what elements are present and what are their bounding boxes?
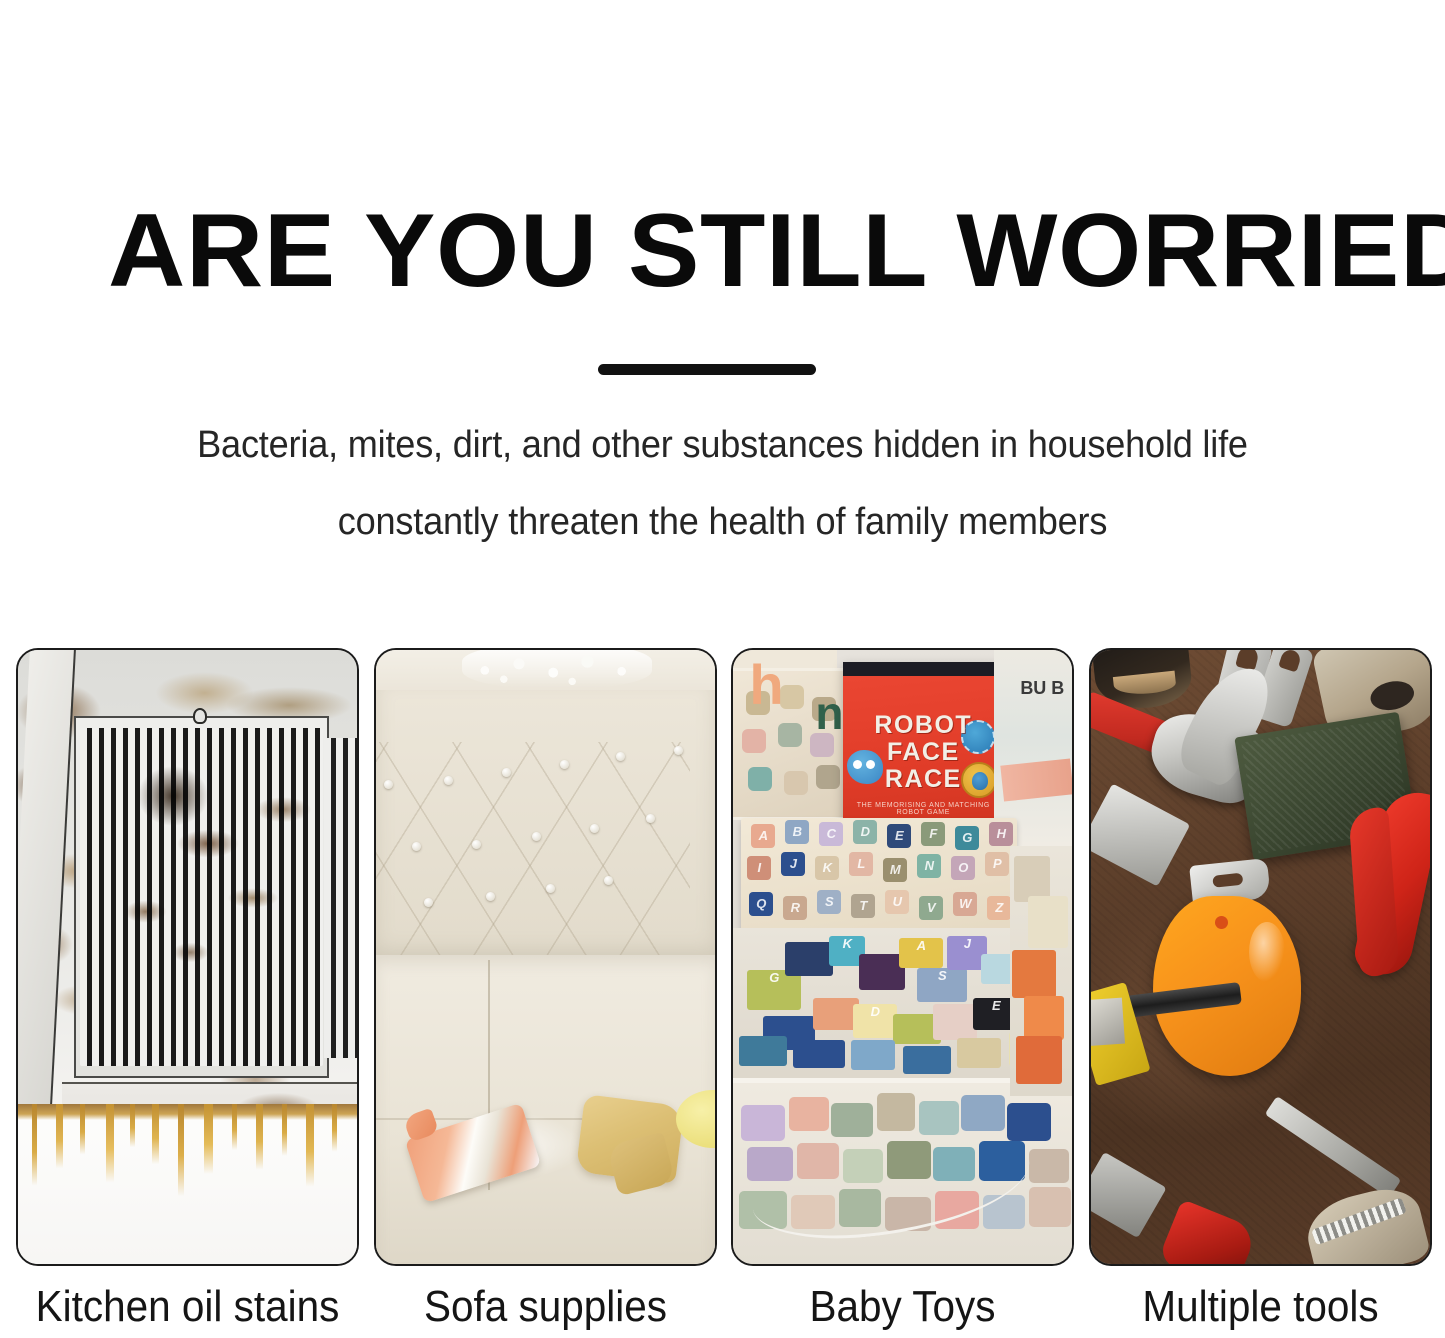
subtitle-line-2: constantly threaten the health of family…: [36, 501, 1409, 544]
subtitle-block: Bacteria, mites, dirt, and other substan…: [0, 424, 1445, 544]
oil-drips: [18, 1104, 357, 1264]
right-toy-stack: [1010, 846, 1072, 1096]
gallery-panel-multiple-tools[interactable]: [1089, 648, 1432, 1266]
caption-baby-toys: Baby Toys: [745, 1282, 1061, 1334]
filter-latch: [193, 708, 207, 724]
gallery-panel-sofa-supplies[interactable]: [374, 648, 717, 1266]
pink-block-right: [1001, 758, 1073, 801]
promo-page: ARE YOU STILL WORRIED? Bacteria, mites, …: [0, 0, 1445, 1338]
toy-letters-bin: [733, 1078, 1072, 1264]
tools-photo: [1091, 650, 1430, 1264]
white-cable: [747, 1120, 1036, 1249]
box-title: ROBOT FACE RACE: [843, 712, 1003, 793]
gallery-panel-kitchen-oil-stains[interactable]: [16, 648, 359, 1266]
page-title: ARE YOU STILL WORRIED?: [108, 196, 1437, 306]
box-subtitle: THE MEMORISING AND MATCHING ROBOT GAME: [843, 802, 1003, 816]
caption-multiple-tools: Multiple tools: [1103, 1282, 1419, 1334]
wooden-letter-h: h: [749, 652, 783, 717]
image-gallery: h n ROBOT FACE RACE THE MEMORISING AND M…: [16, 648, 1432, 1266]
title-divider: [598, 364, 816, 375]
wall-letters: BU B: [1020, 678, 1064, 698]
wooden-letter-n: n: [815, 686, 843, 740]
gallery-panel-baby-toys[interactable]: h n ROBOT FACE RACE THE MEMORISING AND M…: [731, 648, 1074, 1266]
caption-row: Kitchen oil stains Sofa supplies Baby To…: [16, 1282, 1432, 1334]
caption-kitchen-oil-stains: Kitchen oil stains: [30, 1282, 346, 1334]
hood-filter-grill-secondary: [324, 738, 357, 1058]
box-title-line-3: RACE: [885, 765, 962, 793]
lace-throw: [462, 650, 652, 688]
sofa-photo: [376, 650, 715, 1264]
kitchen-hood-photo: [18, 650, 357, 1264]
tape-measure-button: [1215, 916, 1228, 929]
baby-toys-photo: h n ROBOT FACE RACE THE MEMORISING AND M…: [733, 650, 1072, 1264]
box-title-line-1: ROBOT: [874, 711, 972, 739]
tufting-buttons: [376, 702, 715, 932]
robot-face-race-box: ROBOT FACE RACE THE MEMORISING AND MATCH…: [843, 662, 1003, 832]
subtitle-line-1: Bacteria, mites, dirt, and other substan…: [36, 424, 1409, 467]
grease-grime-overlay: [78, 728, 328, 1068]
box-title-line-2: FACE: [887, 738, 960, 766]
alphabet-puzzle-board: A B C D E F G H I J K L M N O P Q: [741, 818, 1017, 936]
caption-sofa-supplies: Sofa supplies: [387, 1282, 703, 1334]
